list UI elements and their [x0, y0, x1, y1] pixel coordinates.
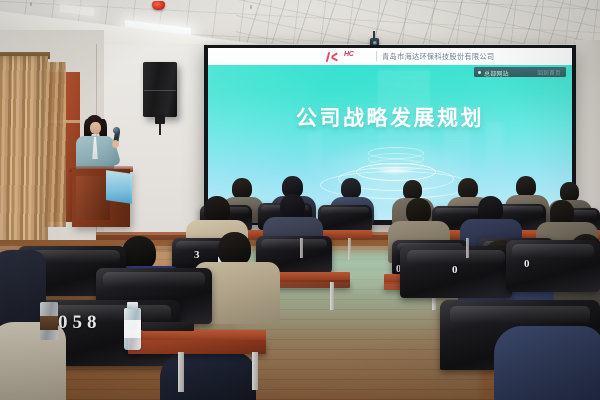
notebook[interactable]: [142, 322, 194, 331]
desk-leg: [300, 238, 303, 258]
wall-speaker-cable: [159, 123, 161, 135]
desk-leg: [178, 352, 184, 392]
presenter-face: [90, 122, 101, 134]
podium-front-panel: [76, 176, 110, 220]
sprinkler-head-icon: [250, 5, 252, 9]
wall-speaker-seam: [144, 90, 176, 91]
person-head: [218, 232, 251, 266]
thermos-cup-band: [40, 316, 58, 330]
bottle-label: [124, 320, 141, 338]
person-head: [204, 196, 230, 223]
podium-monitor: [106, 170, 132, 204]
presenter-hand: [112, 140, 119, 148]
person-torso: [494, 326, 600, 400]
fire-alarm-strobe-icon: [152, 1, 165, 10]
person-head: [458, 178, 478, 199]
microphone-head-icon: [113, 127, 120, 134]
person-head: [560, 182, 579, 202]
seat-number: 0: [524, 258, 530, 270]
sprinkler-head-icon: [30, 2, 32, 6]
chair[interactable]: 0: [400, 246, 512, 298]
window-curtain-secondary[interactable]: [44, 62, 66, 227]
chair[interactable]: 0: [506, 240, 600, 292]
seat-number: 0: [452, 264, 458, 276]
person-head: [516, 176, 536, 197]
person-torso: [160, 352, 256, 400]
seat-number: 058: [58, 312, 102, 334]
window-curtain[interactable]: [0, 56, 48, 256]
person-head: [122, 236, 156, 270]
desk-leg: [348, 238, 351, 260]
seat-number: 3: [194, 249, 200, 261]
desk-leg: [252, 352, 258, 390]
chair[interactable]: [318, 205, 372, 232]
desk-edge: [128, 340, 266, 354]
person-head: [232, 178, 252, 199]
desk-leg: [466, 238, 469, 258]
desk-leg: [330, 282, 334, 310]
person-head: [341, 178, 361, 199]
bottle-cap: [127, 302, 138, 309]
person-head: [403, 180, 422, 200]
conference-room-photo: HC 青岛市海达环保科技股份有限公司 总部网站 回到首页 公司战略发展规划: [0, 0, 600, 400]
